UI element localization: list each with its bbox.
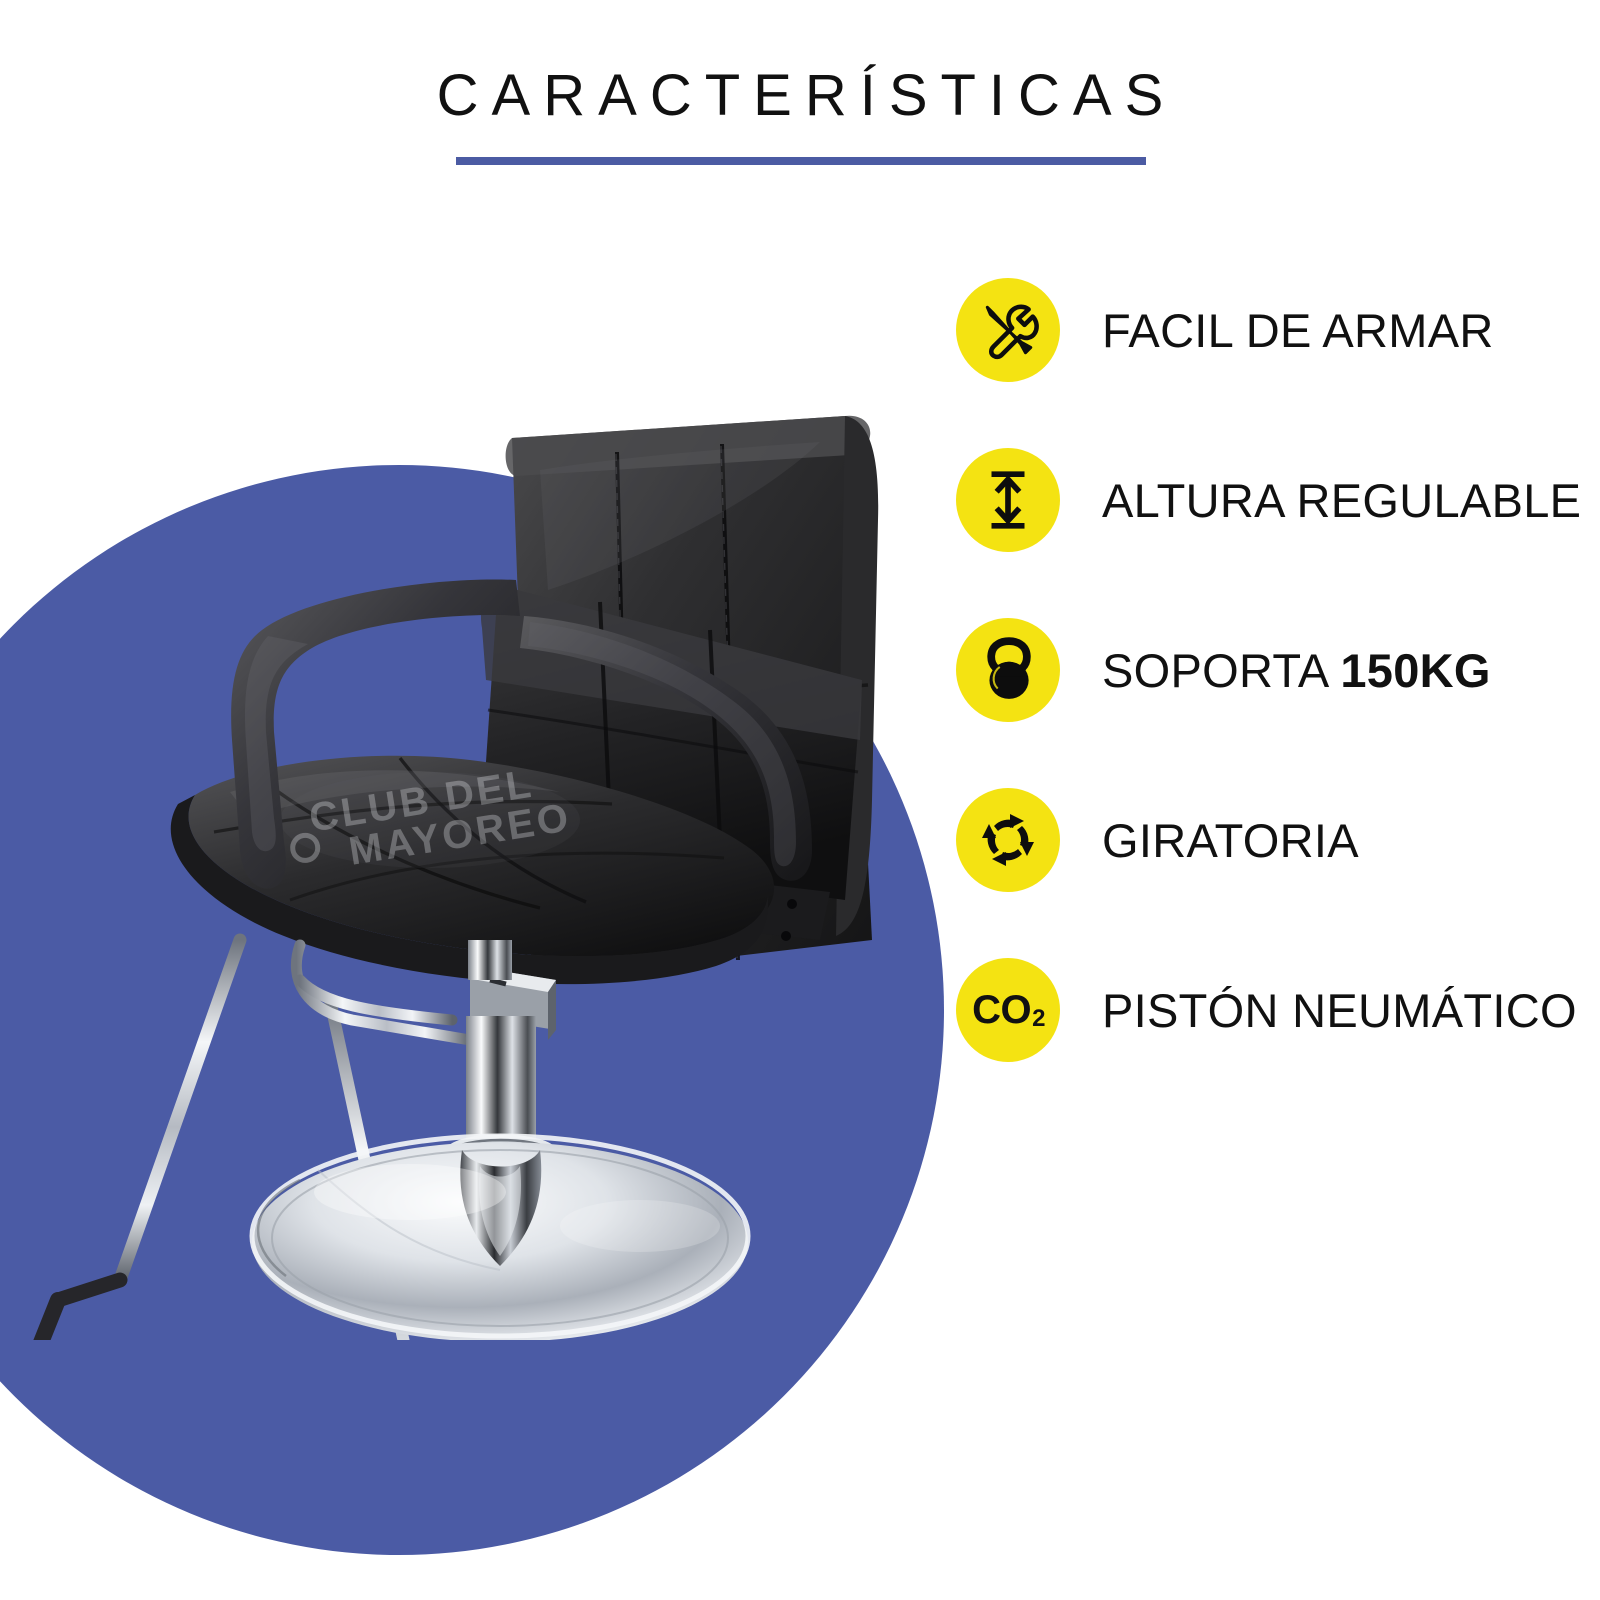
co2-text-icon: CO2 xyxy=(972,990,1044,1030)
page-title: CARACTERÍSTICAS xyxy=(0,62,1600,129)
feature-label: GIRATORIA xyxy=(1102,813,1359,868)
feature-label: SOPORTA 150KG xyxy=(1102,643,1491,698)
feature-label: ALTURA REGULABLE xyxy=(1102,473,1581,528)
rotation-arrows-circle-icon xyxy=(976,808,1040,872)
feature-badge xyxy=(956,278,1060,382)
tools-wrench-screwdriver-icon xyxy=(975,297,1041,363)
feature-badge xyxy=(956,618,1060,722)
co2-main-text: CO xyxy=(972,988,1031,1032)
feature-item-soporta-150kg: SOPORTA 150KG xyxy=(956,616,1576,724)
co2-subscript: 2 xyxy=(1032,1005,1045,1032)
feature-badge xyxy=(956,448,1060,552)
feature-item-facil-de-armar: FACIL DE ARMAR xyxy=(956,276,1576,384)
height-adjust-arrow-icon xyxy=(979,467,1037,533)
title-underline-rule xyxy=(456,157,1146,165)
product-image-chair xyxy=(0,380,900,1340)
feature-label-plain: SOPORTA xyxy=(1102,644,1340,697)
feature-label: FACIL DE ARMAR xyxy=(1102,303,1494,358)
feature-badge: CO2 xyxy=(956,958,1060,1062)
features-list: FACIL DE ARMAR ALTURA REGULABLE xyxy=(956,276,1576,1064)
feature-label-bold: 150KG xyxy=(1340,644,1490,697)
feature-label: PISTÓN NEUMÁTICO xyxy=(1102,983,1577,1038)
feature-badge xyxy=(956,788,1060,892)
feature-item-piston-neumatico: CO2 PISTÓN NEUMÁTICO xyxy=(956,956,1576,1064)
chair-base-disc xyxy=(252,1136,748,1340)
feature-item-giratoria: GIRATORIA xyxy=(956,786,1576,894)
kettlebell-weight-icon xyxy=(978,637,1038,703)
feature-item-altura-regulable: ALTURA REGULABLE xyxy=(956,446,1576,554)
